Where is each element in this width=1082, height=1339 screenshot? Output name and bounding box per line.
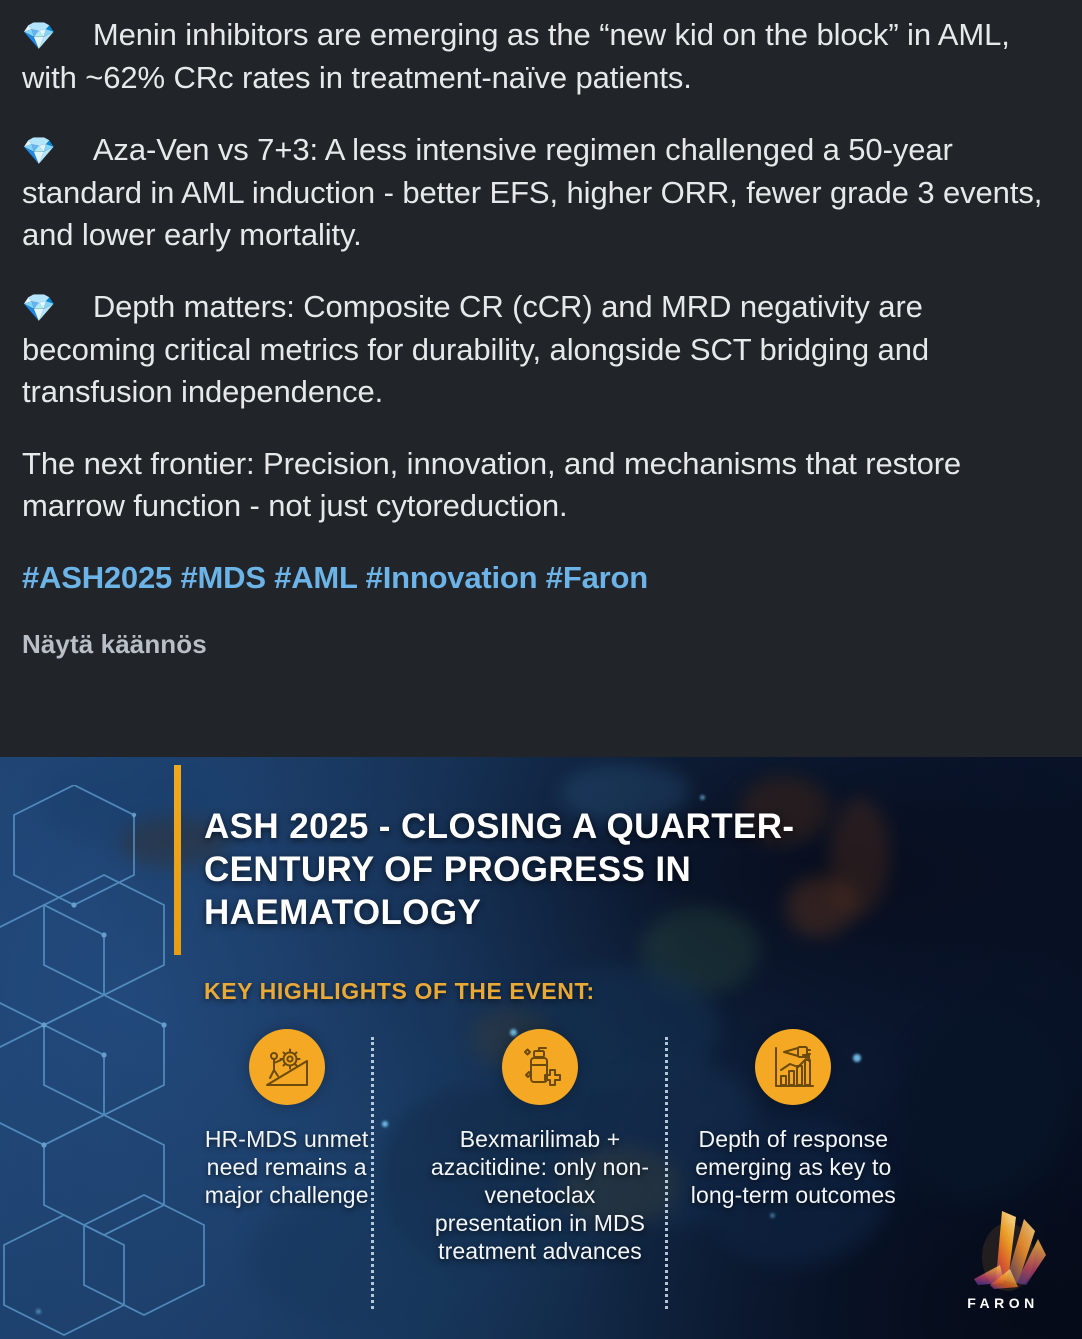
post-paragraph-1-text: Menin inhibitors are emerging as the “ne… [22, 17, 1010, 95]
post-paragraph-1: 💎 Menin inhibitors are emerging as the “… [22, 14, 1060, 99]
attached-image-card[interactable]: ASH 2025 - CLOSING A QUARTER-CENTURY OF … [0, 757, 1082, 1339]
highlight-text-3: Depth of response emerging as key to lon… [683, 1125, 903, 1209]
highlight-column-3: Depth of response emerging as key to lon… [667, 1029, 920, 1329]
post-paragraph-4: The next frontier: Precision, innovation… [22, 443, 1060, 527]
post-paragraph-2-text: Aza-Ven vs 7+3: A less intensive regimen… [22, 132, 1042, 252]
faron-logo: FARON [938, 1205, 1068, 1325]
post-paragraph-3: 💎 Depth matters: Composite CR (cCR) and … [22, 286, 1060, 413]
highlights-row: HR-MDS unmet need remains a major challe… [160, 1029, 920, 1329]
faron-wordmark: FARON [938, 1295, 1068, 1311]
highlight-icon-circle [755, 1029, 831, 1105]
person-pushing-gear-uphill-icon [262, 1042, 312, 1092]
title-accent-bar [174, 765, 181, 955]
card-title: ASH 2025 - CLOSING A QUARTER-CENTURY OF … [204, 805, 904, 934]
hashtag-links[interactable]: #ASH2025 #MDS #AML #Innovation #Faron [22, 557, 1060, 599]
highlight-text-1: HR-MDS unmet need remains a major challe… [177, 1125, 397, 1209]
post-paragraph-3-text: Depth matters: Composite CR (cCR) and MR… [22, 289, 929, 409]
card-subtitle: KEY HIGHLIGHTS OF THE EVENT: [204, 978, 595, 1005]
post-text-body: 💎 Menin inhibitors are emerging as the “… [0, 0, 1082, 757]
highlight-icon-circle [249, 1029, 325, 1105]
highlight-column-2: Bexmarilimab + azacitidine: only non-ven… [413, 1029, 666, 1329]
gem-stone-icon: 💎 [22, 21, 56, 51]
bar-chart-growth-magnifier-icon [768, 1042, 818, 1092]
highlight-column-1: HR-MDS unmet need remains a major challe… [160, 1029, 413, 1329]
post-paragraph-2: 💎 Aza-Ven vs 7+3: A less intensive regim… [22, 129, 1060, 256]
gem-stone-icon: 💎 [22, 136, 56, 166]
highlight-icon-circle [502, 1029, 578, 1105]
gem-stone-icon: 💎 [22, 293, 56, 323]
highlight-text-2: Bexmarilimab + azacitidine: only non-ven… [430, 1125, 650, 1265]
medicine-vial-with-cross-icon [515, 1042, 565, 1092]
show-translation-link[interactable]: Näytä käännös [22, 627, 1060, 661]
